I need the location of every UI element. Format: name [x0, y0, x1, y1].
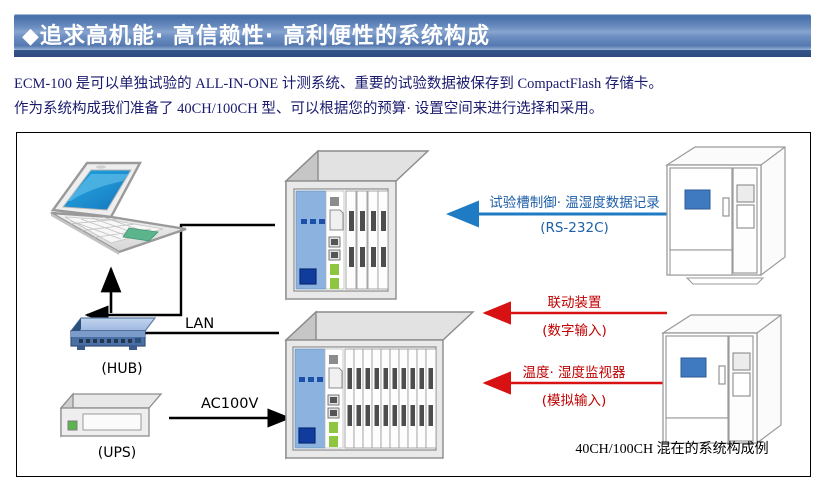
rs232c-protocol-label: (RS-232C) — [467, 220, 682, 236]
intro-line-2: 作为系统构成我们准备了 40CH/100CH 型、可以根据您的预算· 设置空间来… — [14, 97, 814, 122]
intro-text: ECM-100 是可以单独试验的 ALL-IN-ONE 计测系统、重要的试验数据… — [14, 72, 814, 122]
system-diagram: (HUB) (UPS) — [16, 132, 811, 477]
test-chamber-bottom-icon — [653, 313, 788, 453]
hub-icon — [67, 315, 162, 357]
rs232c-title-label: 试验槽制御· 温湿度数据记录 — [467, 191, 682, 211]
hub-label: (HUB) — [82, 361, 162, 377]
header-underbar — [14, 50, 811, 57]
lan-label: LAN — [185, 316, 214, 332]
digital-input-title-label: 联动装置 — [487, 291, 662, 311]
rack-unit-top-icon — [282, 147, 432, 307]
analog-input-title-label: 温度· 湿度监视器 — [479, 361, 669, 381]
ac100v-label: AC100V — [201, 396, 258, 412]
laptop-icon — [45, 155, 190, 260]
diagram-caption: 40CH/100CH 混在的系统构成例 — [547, 438, 797, 458]
intro-line-1: ECM-100 是可以单独试验的 ALL-IN-ONE 计测系统、重要的试验数据… — [14, 72, 814, 97]
test-chamber-top-icon — [657, 145, 792, 285]
rack-unit-bottom-icon — [282, 308, 477, 463]
ups-label: (UPS) — [77, 445, 157, 461]
page-title: ◆追求高机能· 高信赖性· 高利便性的系统构成 — [22, 18, 490, 50]
ups-icon — [57, 391, 167, 441]
digital-input-sub-label: (数字输入) — [487, 319, 662, 339]
analog-input-sub-label: (模拟输入) — [479, 389, 669, 409]
